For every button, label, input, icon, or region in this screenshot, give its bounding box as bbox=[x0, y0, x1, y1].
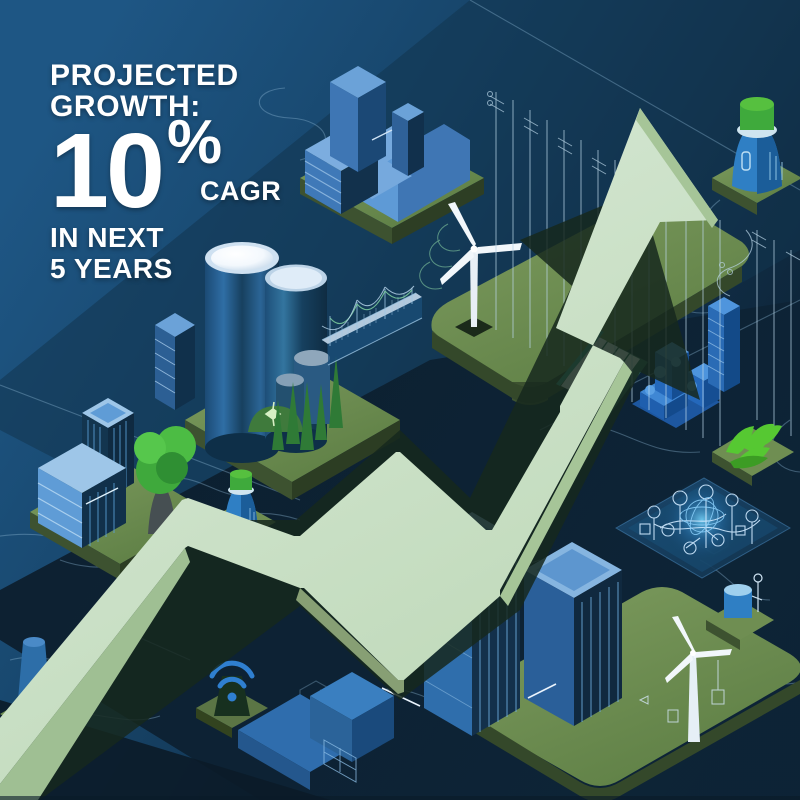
foreground-accents bbox=[0, 796, 800, 800]
small-tower-cap-top bbox=[230, 470, 252, 479]
turbine-mast bbox=[470, 250, 478, 327]
network-glow bbox=[662, 480, 742, 560]
tower-slim-left bbox=[392, 112, 408, 176]
turbine-hub bbox=[471, 246, 478, 253]
cylinder-mid-cap bbox=[270, 267, 322, 289]
tree-canopy-d bbox=[156, 452, 188, 484]
isometric-scene bbox=[0, 0, 800, 800]
small-turbine-hub bbox=[690, 650, 696, 656]
green-tower-cap-top bbox=[740, 97, 774, 111]
cylinder-large-cap bbox=[211, 246, 273, 271]
tank-b-cap bbox=[276, 374, 304, 387]
wifi-dot-icon bbox=[228, 693, 237, 702]
infographic-canvas: PROJECTED GROWTH: 10 % CAGR IN NEXT 5 YE… bbox=[0, 0, 800, 800]
tank-a-cap bbox=[294, 350, 330, 366]
tower-slim-right bbox=[408, 112, 424, 176]
stepped-building bbox=[155, 313, 195, 410]
ground-strip-bottom bbox=[0, 796, 800, 800]
grid-tower-block bbox=[708, 297, 740, 392]
